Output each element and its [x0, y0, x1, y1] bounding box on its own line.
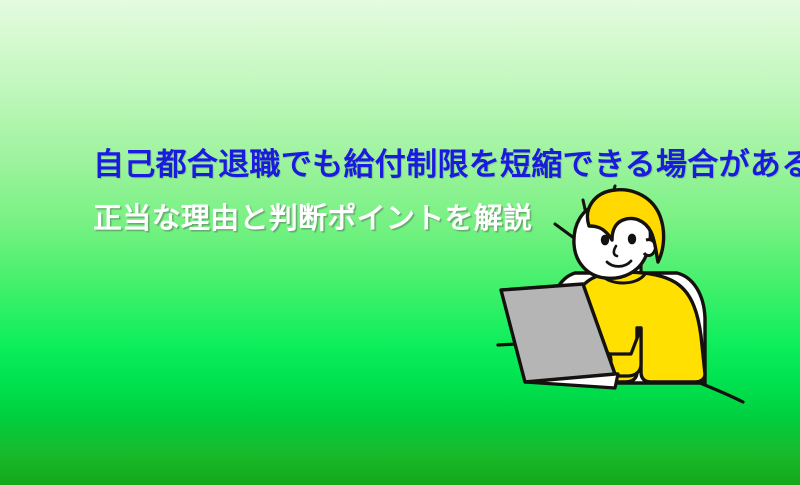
- banner-root: 自己都合退職でも給付制限を短縮できる場合がある？ 正当な理由と判断ポイントを解説: [0, 0, 800, 485]
- eye-right: [628, 234, 636, 245]
- illustration-svg: [455, 178, 800, 438]
- desk-edge-right-line: [700, 383, 743, 402]
- person-at-laptop-illustration: [455, 178, 800, 438]
- eye-left: [601, 235, 609, 246]
